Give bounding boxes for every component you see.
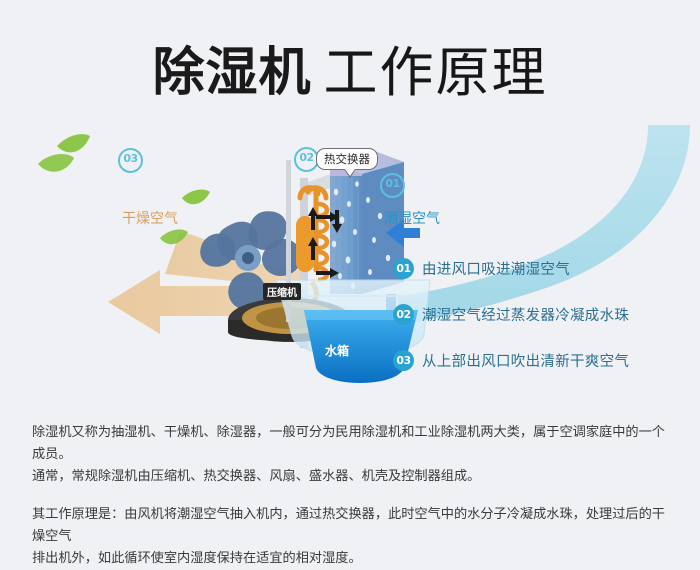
step-badge-03: 03 [393, 350, 414, 371]
paragraph-spacer [32, 488, 672, 504]
list-item: 02 潮湿空气经过蒸发器冷凝成水珠 [393, 302, 683, 326]
paragraph-2-line-2: 排出机外，如此循环使室内湿度保持在适宜的相对湿度。 [32, 548, 672, 570]
diagram-badge-03: 03 [118, 148, 143, 173]
list-item: 03 从上部出风口吹出清新干爽空气 [393, 348, 683, 372]
label-compressor: 压缩机 [263, 283, 301, 300]
body-copy: 除湿机又称为抽湿机、干燥机、除湿器，一般可分为民用除湿机和工业除湿机两大类，属于… [32, 422, 672, 570]
label-water-tank: 水箱 [325, 342, 349, 359]
paragraph-1-line-2: 通常，常规除湿机由压缩机、热交换器、风扇、盛水器、机壳及控制器组成。 [32, 466, 672, 488]
diagram-badge-01: 01 [380, 173, 405, 198]
step-badge-02: 02 [393, 304, 414, 325]
step-text-02: 潮湿空气经过蒸发器冷凝成水珠 [422, 304, 629, 325]
label-dry-air: 干燥空气 [122, 208, 178, 228]
step-text-03: 从上部出风口吹出清新干爽空气 [422, 350, 629, 371]
steps-list: 01 由进风口吸进潮湿空气 02 潮湿空气经过蒸发器冷凝成水珠 03 从上部出风… [393, 256, 683, 394]
label-heat-exchanger: 热交换器 [316, 148, 378, 170]
list-item: 01 由进风口吸进潮湿空气 [393, 256, 683, 280]
page-title-primary: 除湿机 [152, 43, 311, 103]
step-text-01: 由进风口吸进潮湿空气 [422, 258, 570, 279]
page-title: 除湿机工作原理 [0, 28, 700, 107]
paragraph-1-line-1: 除湿机又称为抽湿机、干燥机、除湿器，一般可分为民用除湿机和工业除湿机两大类，属于… [32, 422, 672, 466]
infographic-page: 除湿机工作原理 [0, 0, 700, 566]
paragraph-2-line-1: 其工作原理是：由风机将潮湿空气抽入机内，通过热交换器，此时空气中的水分子冷凝成水… [32, 504, 672, 548]
step-badge-01: 01 [393, 258, 414, 279]
label-humid-air: 潮湿空气 [384, 208, 440, 228]
page-title-secondary: 工作原理 [324, 41, 548, 104]
